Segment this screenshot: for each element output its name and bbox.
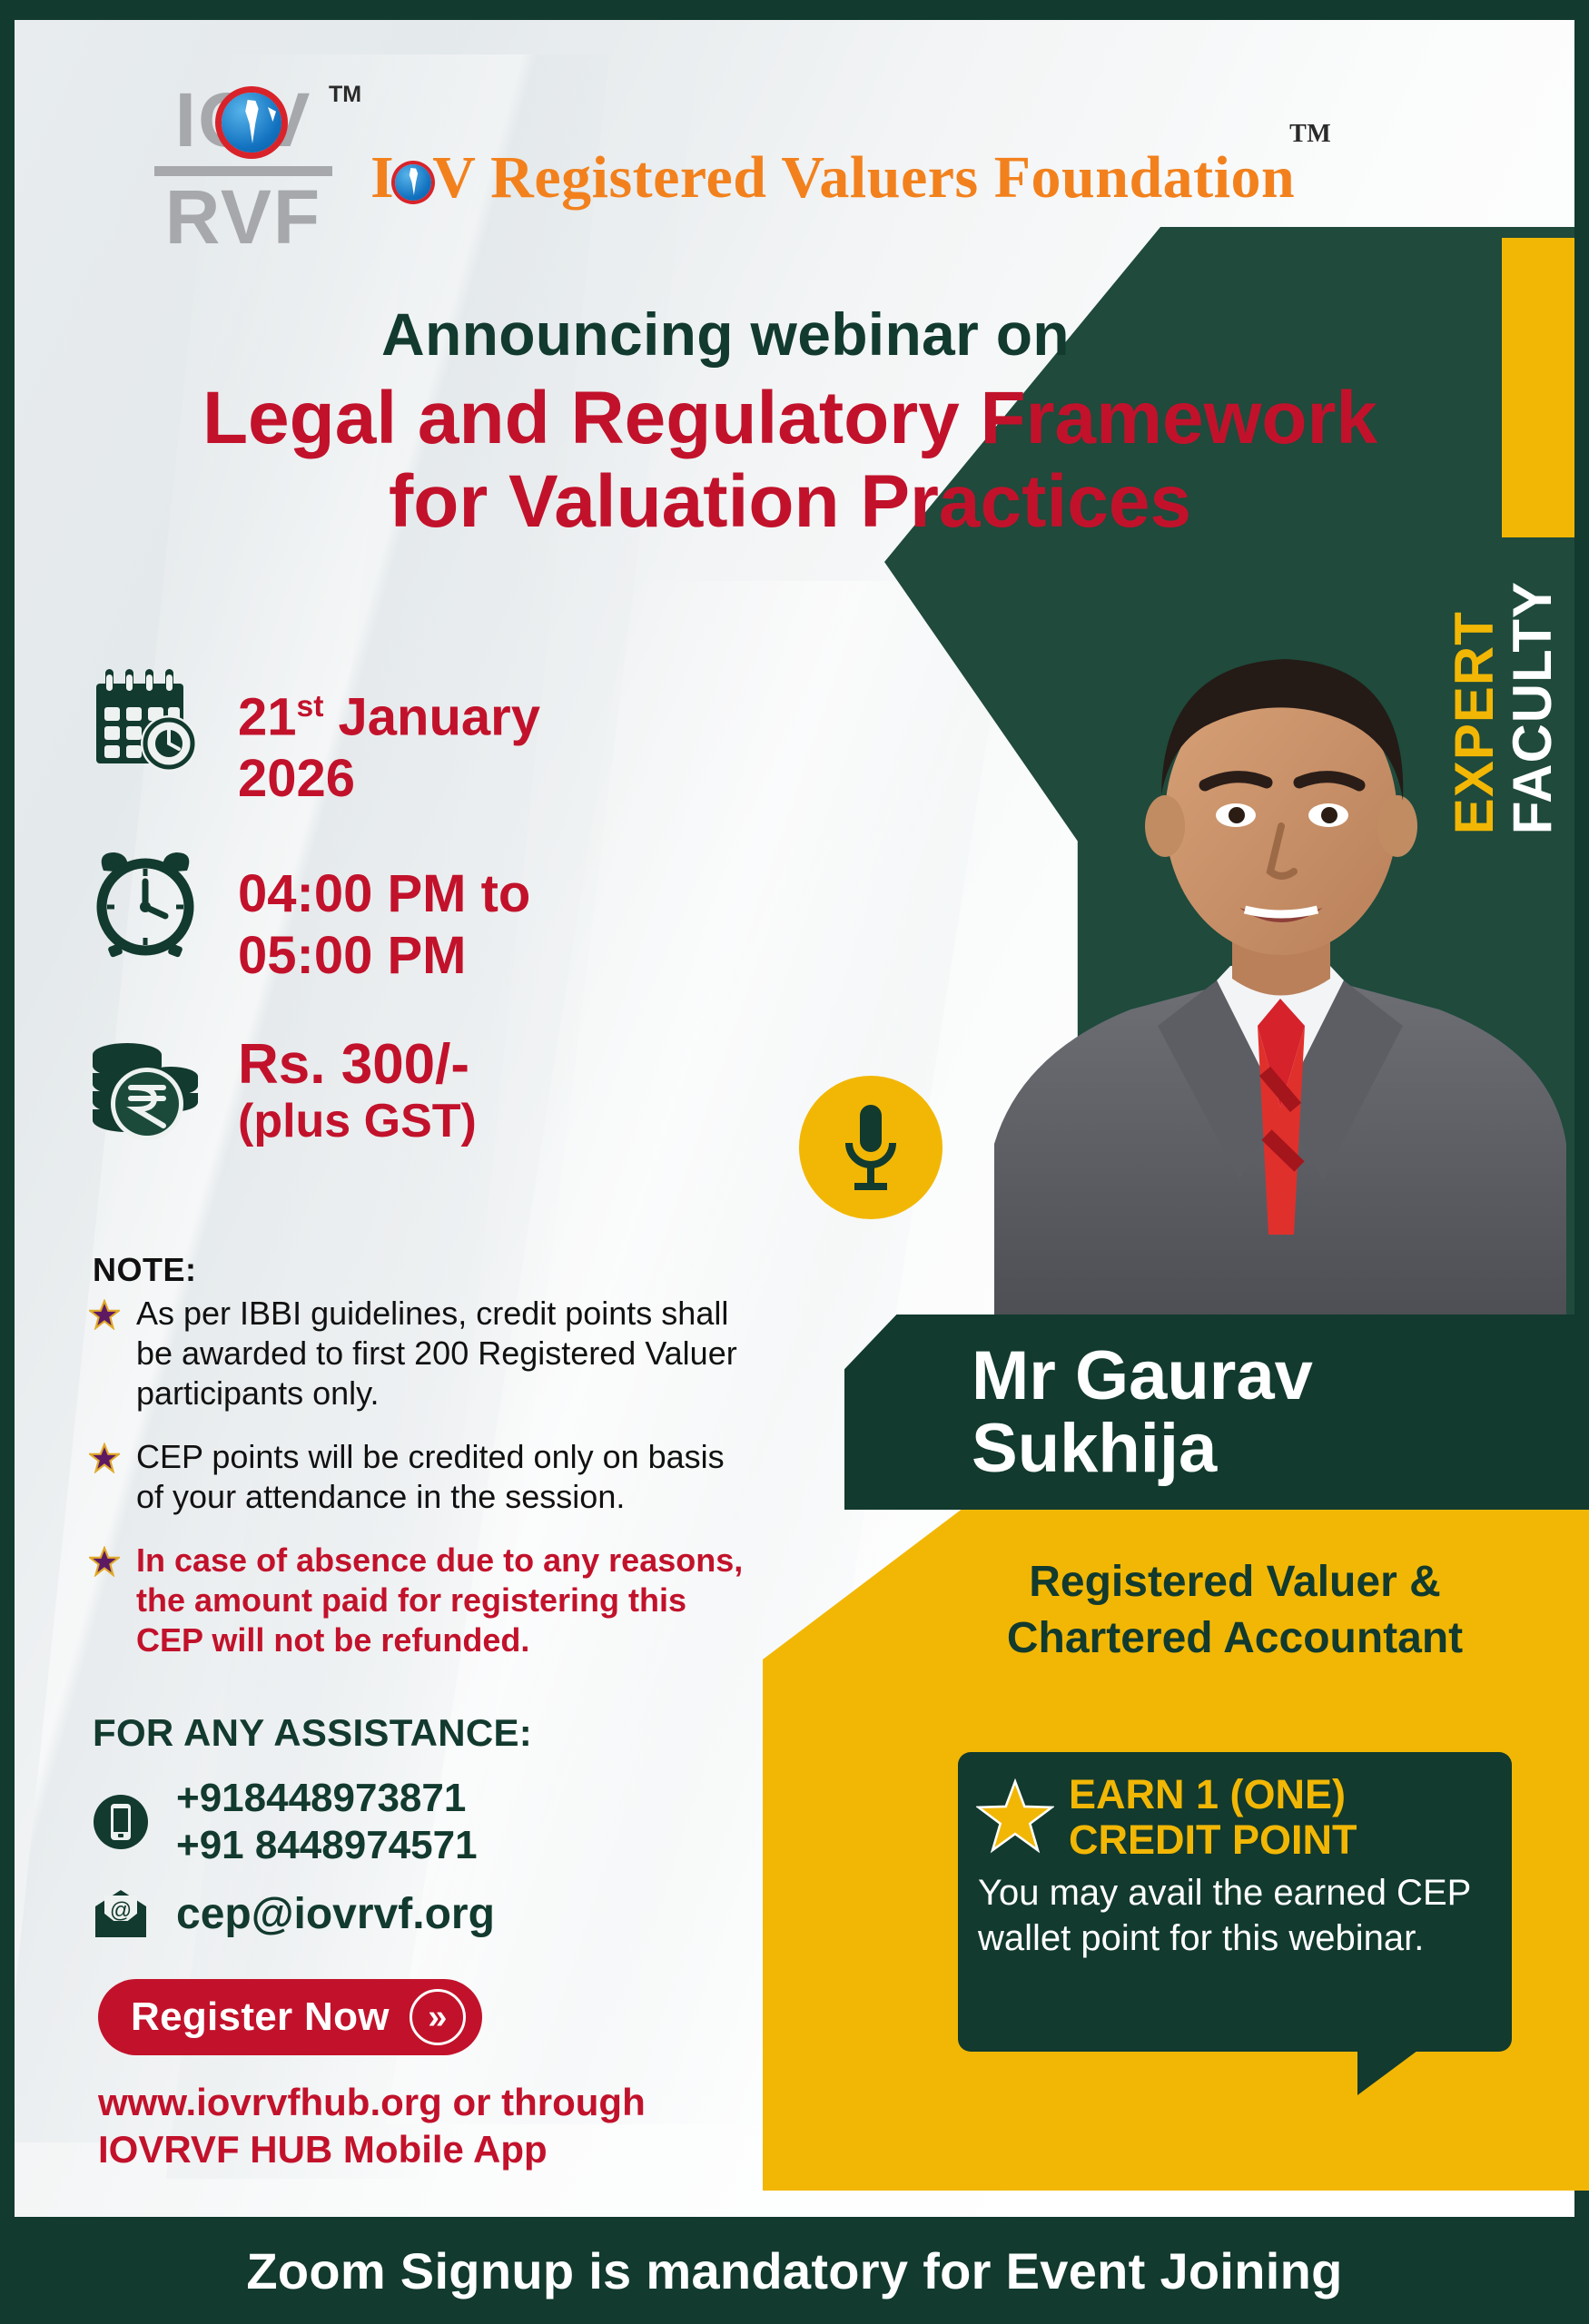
org-name-pre: I (370, 144, 394, 211)
credit-head-line1: EARN 1 (ONE) (1069, 1772, 1357, 1817)
footer-text: Zoom Signup is mandatory for Event Joini… (246, 2241, 1342, 2300)
border-top (0, 0, 1589, 20)
email-contact-row[interactable]: @ cep@iovrvf.org (91, 1888, 495, 1941)
star-bullet-icon (89, 1541, 120, 1660)
yellow-accent-strip (1502, 238, 1574, 537)
trademark-symbol: TM (329, 82, 361, 108)
website-line-1: www.iovrvfhub.org or through (98, 2079, 646, 2126)
fee-gst-note: (plus GST) (238, 1095, 477, 1147)
phone-contact-row[interactable]: +918448973871 +91 8448974571 (91, 1775, 478, 1869)
double-chevron-right-icon: » (410, 1989, 466, 2045)
note-list: As per IBBI guidelines, credit points sh… (89, 1294, 752, 1684)
time-row: 04:00 PM to 05:00 PM (84, 849, 530, 987)
speaker-role-line1: Registered Valuer & (917, 1554, 1553, 1610)
list-item: In case of absence due to any reasons, t… (89, 1541, 752, 1660)
time-line-2: 05:00 PM (238, 926, 466, 985)
coins-rupee-icon (84, 1035, 207, 1149)
phone-numbers: +918448973871 +91 8448974571 (176, 1775, 478, 1869)
email-address: cep@iovrvf.org (176, 1891, 495, 1938)
speaker-photo (967, 599, 1584, 1316)
fee-amount: Rs. 300/- (238, 1035, 477, 1095)
announce-text: Announcing webinar on (381, 300, 1471, 369)
speaker-role: Registered Valuer & Chartered Accountant (917, 1554, 1553, 1667)
date-row: 21st January 2026 (84, 667, 540, 810)
fee-text: Rs. 300/- (plus GST) (238, 1035, 477, 1147)
border-left (0, 0, 15, 2324)
list-item: As per IBBI guidelines, credit points sh… (89, 1294, 752, 1413)
fee-row: Rs. 300/- (plus GST) (84, 1035, 477, 1149)
svg-text:@: @ (110, 1898, 132, 1923)
note-text-2: CEP points will be credited only on basi… (136, 1437, 752, 1517)
microphone-badge (799, 1076, 943, 1219)
mobile-phone-icon (91, 1793, 151, 1851)
assistance-heading: FOR ANY ASSISTANCE: (93, 1711, 532, 1755)
trademark-symbol: TM (1289, 120, 1331, 149)
credit-point-callout: EARN 1 (ONE) CREDIT POINT You may avail … (958, 1752, 1512, 2052)
note-text-3: In case of absence due to any reasons, t… (136, 1541, 752, 1660)
microphone-icon (834, 1098, 907, 1197)
time-text: 04:00 PM to 05:00 PM (238, 849, 530, 987)
date-day: 21 (238, 687, 297, 746)
email-icon: @ (91, 1888, 151, 1941)
credit-head-line2: CREDIT POINT (1069, 1817, 1357, 1863)
globe-icon-small (395, 164, 431, 201)
speaker-name-line2: Sukhija (972, 1413, 1313, 1485)
website-info[interactable]: www.iovrvfhub.org or through IOVRVF HUB … (98, 2079, 646, 2173)
date-month: January (323, 687, 540, 746)
speaker-name-line1: Mr Gaurav (972, 1340, 1313, 1413)
date-year: 2026 (238, 749, 355, 808)
date-suffix: st (297, 690, 324, 724)
organisation-title: IV Registered Valuers Foundation TM (370, 143, 1487, 212)
phone-number-2: +91 8448974571 (176, 1822, 478, 1869)
website-line-2: IOVRVF HUB Mobile App (98, 2126, 646, 2173)
calendar-clock-icon (84, 667, 207, 776)
list-item: CEP points will be credited only on basi… (89, 1437, 752, 1517)
alarm-clock-icon (84, 849, 207, 958)
logo-rvf-text: RVF (134, 178, 352, 256)
star-bullet-icon (89, 1437, 120, 1517)
time-line-1: 04:00 PM to (238, 864, 530, 923)
title-line-2: for Valuation Practices (109, 460, 1471, 544)
page-title: Legal and Regulatory Framework for Valua… (109, 377, 1471, 544)
globe-icon (222, 93, 281, 153)
iovrvf-logo: IOV TM RVF (134, 80, 352, 256)
register-button-label: Register Now (131, 1994, 390, 2040)
date-text: 21st January 2026 (238, 667, 540, 810)
note-heading: NOTE: (93, 1251, 197, 1289)
speaker-role-line2: Chartered Accountant (917, 1610, 1553, 1667)
speaker-name-plate: Mr Gaurav Sukhija (844, 1315, 1589, 1510)
star-bullet-icon (89, 1294, 120, 1413)
phone-number-1: +918448973871 (176, 1775, 478, 1822)
border-bottom (0, 2304, 1589, 2324)
credit-body-text: You may avail the earned CEP wallet poin… (958, 1863, 1512, 1961)
title-line-1: Legal and Regulatory Framework (202, 377, 1377, 459)
poster-root: EXPERT FACULTY (0, 0, 1589, 2324)
register-now-button[interactable]: Register Now » (98, 1979, 482, 2055)
org-name-post: V Registered Valuers Foundation (432, 144, 1295, 211)
note-text-1: As per IBBI guidelines, credit points sh… (136, 1294, 752, 1413)
star-icon (976, 1778, 1054, 1856)
